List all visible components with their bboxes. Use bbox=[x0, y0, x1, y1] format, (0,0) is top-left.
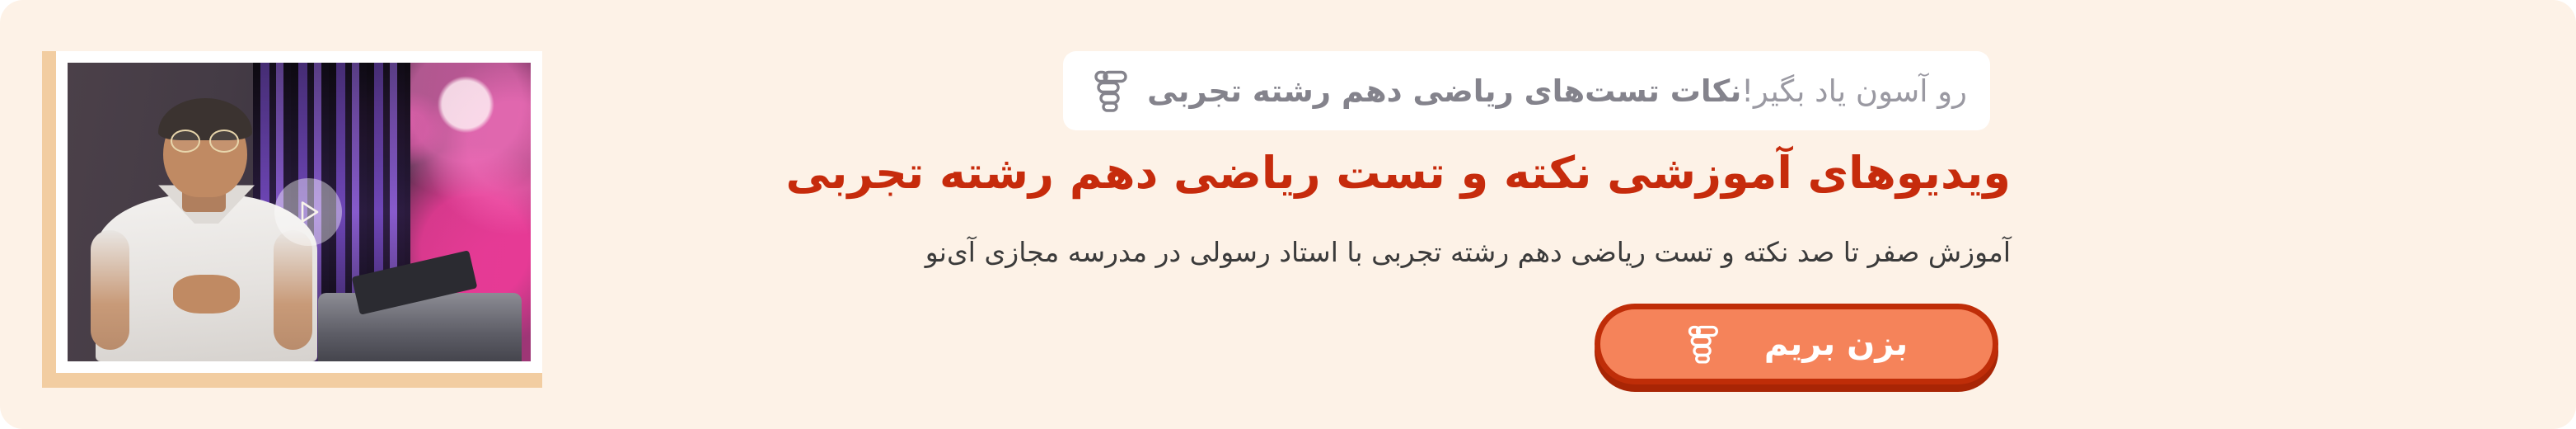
banner-content: رو آسون یاد بگیر!نکات تست‌های ریاضی دهم … bbox=[692, 0, 2011, 429]
megaphone-icon bbox=[1685, 324, 1720, 364]
stage-prop bbox=[318, 293, 522, 361]
headline: ویدیوهای آموزشی نکته و تست ریاضی دهم رشت… bbox=[692, 145, 2011, 201]
cta-label: بزن بریم bbox=[1764, 328, 1908, 361]
promo-banner: رو آسون یاد بگیر!نکات تست‌های ریاضی دهم … bbox=[0, 0, 2576, 429]
video-thumbnail-mat bbox=[56, 51, 542, 373]
cta-button[interactable]: بزن بریم bbox=[1595, 304, 1998, 384]
eyebrow-badge: رو آسون یاد بگیر!نکات تست‌های ریاضی دهم … bbox=[1063, 51, 1990, 130]
eyebrow-text-strong: نکات تست‌های ریاضی دهم رشته تجربی bbox=[1147, 73, 1741, 109]
cta-container: بزن بریم bbox=[1595, 304, 1998, 384]
eyebrow-text: رو آسون یاد بگیر!نکات تست‌های ریاضی دهم … bbox=[1147, 76, 1967, 106]
video-thumbnail-frame bbox=[42, 51, 542, 388]
megaphone-icon bbox=[1091, 69, 1129, 112]
eyebrow-text-light: رو آسون یاد بگیر! bbox=[1741, 73, 1967, 109]
subtitle: آموزش صفر تا صد نکته و تست ریاضی دهم رشت… bbox=[692, 233, 2011, 272]
video-thumbnail[interactable] bbox=[68, 63, 531, 361]
play-button[interactable] bbox=[274, 178, 342, 246]
play-triangle-icon bbox=[294, 198, 322, 226]
